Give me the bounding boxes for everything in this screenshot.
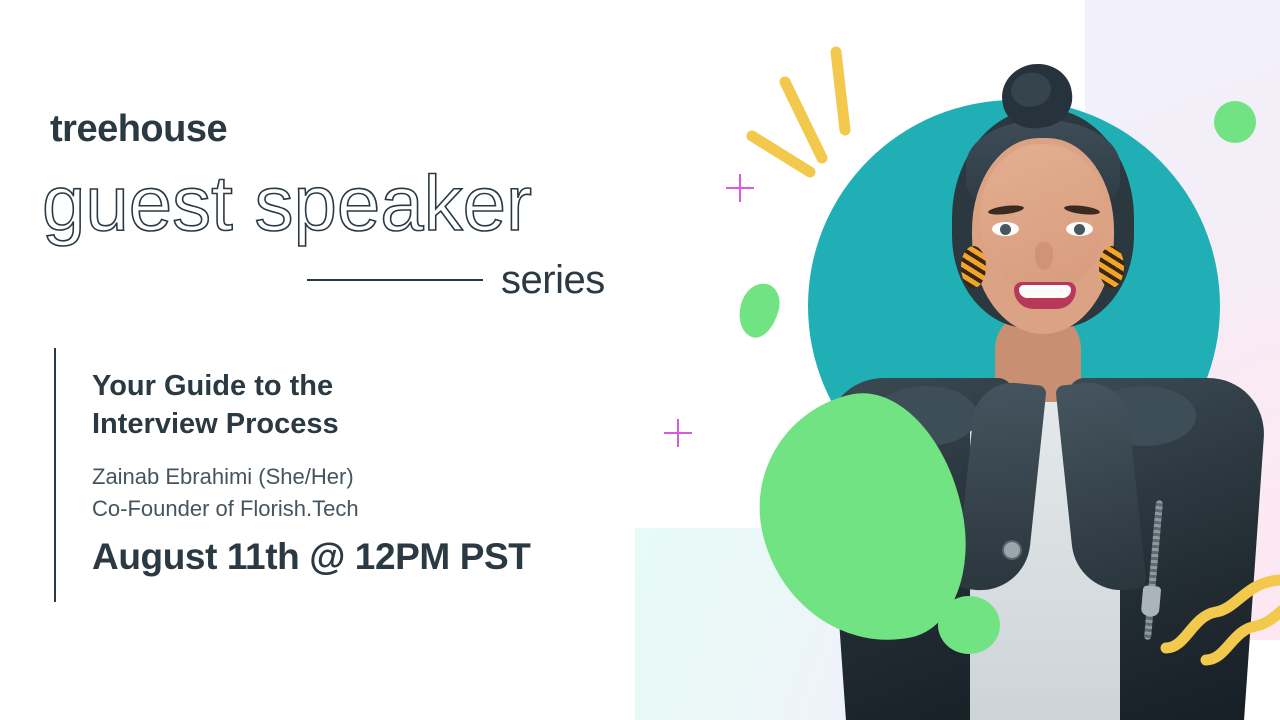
portrait-eye-right — [1066, 222, 1093, 236]
portrait-teeth — [1019, 285, 1071, 298]
series-word: series — [501, 258, 605, 303]
portrait-mouth — [1014, 282, 1076, 309]
headline-outline-text: guest speaker — [42, 158, 532, 249]
event-datetime: August 11th @ 12PM PST — [92, 536, 530, 578]
speaker-role: Co-Founder of Florish.Tech — [92, 493, 359, 525]
speaker-name: Zainab Ebrahimi (She/Her) — [92, 461, 359, 493]
talk-title-line-1: Your Guide to the — [92, 368, 522, 406]
yellow-sparkle-icon — [744, 40, 884, 180]
portrait-eye-left — [992, 222, 1019, 236]
text-column: treehouse guest speaker series Your Guid… — [0, 0, 660, 720]
magenta-plus-icon-1 — [726, 174, 754, 202]
magenta-plus-icon-2 — [664, 419, 692, 447]
portrait-jacket-snap — [1004, 542, 1020, 558]
green-dot-bottom-shape — [938, 596, 1000, 654]
speaker-details: Zainab Ebrahimi (She/Her) Co-Founder of … — [92, 461, 359, 525]
presentation-slide: treehouse guest speaker series Your Guid… — [0, 0, 1280, 720]
portrait-earring-left — [961, 246, 986, 288]
series-row: series — [307, 252, 627, 308]
portrait-earring-right — [1099, 246, 1124, 288]
portrait-nose — [1035, 242, 1053, 270]
green-blob-small-shape — [734, 279, 784, 342]
talk-title: Your Guide to the Interview Process — [92, 368, 522, 444]
vertical-divider-rule — [54, 348, 56, 602]
talk-title-line-2: Interview Process — [92, 406, 522, 444]
yellow-wave-icon — [1160, 560, 1280, 670]
brand-wordmark: treehouse — [50, 108, 227, 151]
series-divider-rule — [307, 279, 483, 281]
portrait-zipper-pull — [1141, 585, 1162, 616]
green-dot-top-shape — [1214, 101, 1256, 143]
